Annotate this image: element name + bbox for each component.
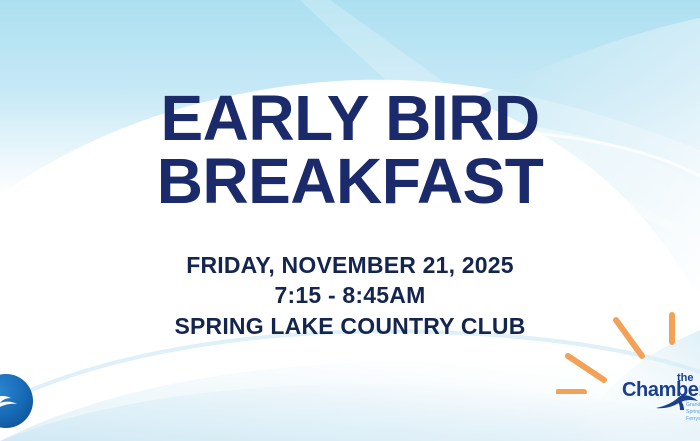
- circle-swoosh-mark-icon: [0, 374, 33, 428]
- logo-region-line-3: Ferrysburg: [686, 416, 700, 422]
- poster-canvas: the Chamber Grand Haven Spring Lake Ferr…: [0, 0, 700, 441]
- logo-region-line-2: Spring Lake: [686, 409, 700, 415]
- burst-ray-diagonal-upper: [616, 320, 642, 356]
- burst-ray-diagonal-lower: [568, 356, 604, 380]
- logo-region-line-1: Grand Haven: [686, 402, 700, 408]
- circle-mark-disc: [0, 374, 33, 428]
- chamber-logo[interactable]: the Chamber Grand Haven Spring Lake Ferr…: [620, 368, 700, 424]
